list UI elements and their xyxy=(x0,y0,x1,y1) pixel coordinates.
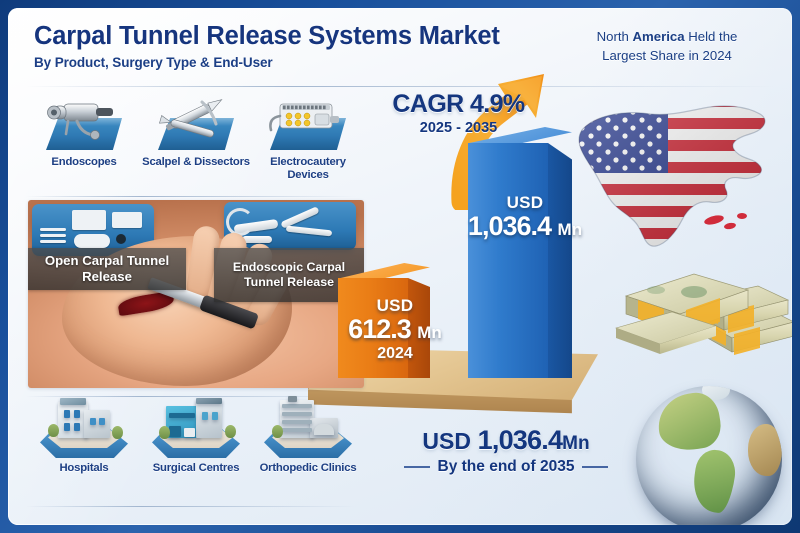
dash-right xyxy=(582,466,608,468)
orthopedic-clinic-building-icon xyxy=(258,398,358,460)
header: Carpal Tunnel Release Systems Market By … xyxy=(34,22,594,70)
region-headline: North America Held the Largest Share in … xyxy=(562,28,772,65)
infographic-panel: Carpal Tunnel Release Systems Market By … xyxy=(8,8,792,525)
surgery-label-open: Open Carpal Tunnel Release xyxy=(28,248,186,290)
product-icon-row: Endoscopes xyxy=(28,92,364,183)
summary-value: USD 1,036.4Mn xyxy=(368,426,644,454)
page-title: Carpal Tunnel Release Systems Market xyxy=(34,22,594,50)
end-user-icon-row: Hospitals Surgical Centres xyxy=(28,398,364,475)
end-user-item-surgical-centres: Surgical Centres xyxy=(140,398,252,475)
electrocautery-icon xyxy=(258,92,358,154)
hospital-building-icon xyxy=(34,398,134,460)
summary-currency: USD xyxy=(422,428,471,454)
bar-2035-unit: Mn xyxy=(558,220,583,239)
page-subtitle: By Product, Surgery Type & End-User xyxy=(34,55,594,70)
divider-end-users xyxy=(26,396,356,397)
bar-2035 xyxy=(468,143,548,378)
cagr-callout: CAGR 4.9% 2025 - 2035 xyxy=(376,90,541,136)
summary-callout: USD 1,036.4Mn By the end of 2035 xyxy=(368,426,644,476)
surgical-centre-building-icon xyxy=(146,398,246,460)
money-stacks-icon xyxy=(608,256,792,376)
region-headline-line1-post: Held the xyxy=(685,29,738,44)
globe-icon xyxy=(636,386,782,525)
divider-header xyxy=(26,86,774,87)
bar-2024-value: 612.3 Mn xyxy=(310,316,480,344)
summary-caption-row: By the end of 2035 xyxy=(368,458,644,476)
summary-unit: Mn xyxy=(562,433,589,454)
end-user-label-surgical-centres: Surgical Centres xyxy=(153,462,240,475)
region-headline-line1-pre: North xyxy=(597,29,633,44)
cagr-period: 2025 - 2035 xyxy=(376,120,541,136)
product-item-scalpel: Scalpel & Dissectors xyxy=(140,92,252,183)
end-user-item-orthopedic-clinics: Orthopedic Clinics xyxy=(252,398,364,475)
summary-caption: By the end of 2035 xyxy=(438,458,575,476)
bar-2024-unit: Mn xyxy=(417,323,442,342)
cagr-value: CAGR 4.9% xyxy=(376,90,541,119)
bar-2024-year: 2024 xyxy=(310,345,480,363)
product-label-scalpel: Scalpel & Dissectors xyxy=(142,156,250,169)
bar-value-2024: USD 612.3 Mn 2024 xyxy=(310,296,480,363)
endoscope-icon xyxy=(34,92,134,154)
end-user-label-hospitals: Hospitals xyxy=(59,462,108,475)
bar-2024-currency: USD xyxy=(310,296,480,316)
summary-number: 1,036.4 xyxy=(478,425,562,455)
product-label-endoscopes: Endoscopes xyxy=(51,156,116,169)
region-headline-line2: Largest Share in 2024 xyxy=(602,48,732,63)
bar-value-2035: USD 1,036.4 Mn xyxy=(440,193,610,241)
divider-bottom xyxy=(26,506,356,507)
dash-left xyxy=(404,466,430,468)
divider-products xyxy=(26,196,356,197)
end-user-item-hospitals: Hospitals xyxy=(28,398,140,475)
region-headline-strong: America xyxy=(633,29,685,44)
end-user-label-orthopedic-clinics: Orthopedic Clinics xyxy=(260,462,357,475)
bar-2035-value: 1,036.4 Mn xyxy=(440,213,610,241)
scalpel-icon xyxy=(146,92,246,154)
product-item-electrocautery: Electrocautery Devices xyxy=(252,92,364,183)
product-label-electrocautery: Electrocautery Devices xyxy=(252,156,364,183)
product-item-endoscopes: Endoscopes xyxy=(28,92,140,183)
bar-2035-currency: USD xyxy=(440,193,610,213)
infographic-frame: Carpal Tunnel Release Systems Market By … xyxy=(0,0,800,533)
